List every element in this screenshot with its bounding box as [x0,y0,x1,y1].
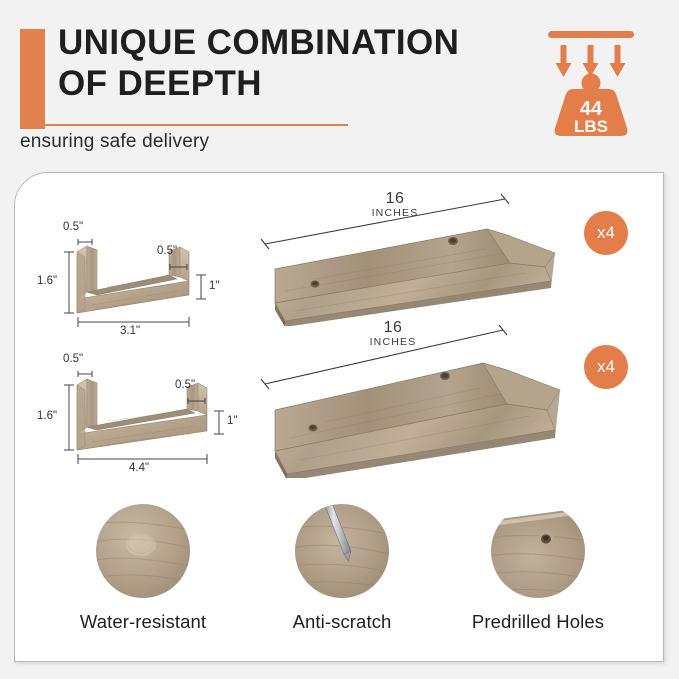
shelf-wide-length: 16 INCHES [358,320,428,348]
dim-lip-left-1: 0.5" [63,221,83,233]
dim-lip-right-1: 0.5" [157,245,177,257]
dim-width-2: 4.4" [129,462,149,474]
page-title: UNIQUE COMBINATION OF DEEPTH [58,22,518,105]
dim-lip-right-2: 0.5" [175,379,195,391]
subtitle: ensuring safe delivery [20,131,209,153]
quantity-badge-wide: x4 [584,345,628,389]
feature-predrilled-holes: Predrilled Holes [443,503,633,633]
scratch-pin-on-wood-icon [294,503,390,599]
shelf-narrow-length-value: 16 [360,191,430,208]
shelf-wide-length-unit: INCHES [358,337,428,348]
predrilled-hole-wood-icon [490,503,586,599]
shelf-narrow: 16 INCHES [255,191,575,326]
product-spec-panel: 0.5" 0.5" 1.6" 1" 3.1" [14,172,664,662]
feature-water-resistant: Water-resistant [48,503,238,633]
dim-height-1: 1.6" [37,275,57,287]
dim-height-2: 1.6" [37,410,57,422]
feature-label-anti-scratch: Anti-scratch [247,611,437,633]
small-shelf-cross-section-drawing [37,217,237,342]
title-divider [20,124,348,126]
header: UNIQUE COMBINATION OF DEEPTH ensuring sa… [0,0,679,170]
shelf-narrow-length-unit: INCHES [360,208,430,219]
accent-bar [20,29,45,129]
feature-row: Water-resistant [15,503,664,653]
dim-width-1: 3.1" [120,325,140,337]
large-shelf-cross-section: 0.5" 0.5" 1.6" 1" 4.4" [37,355,252,480]
shelf-wide-length-value: 16 [358,320,428,337]
shelf-narrow-length: 16 INCHES [360,191,430,219]
feature-label-water-resistant: Water-resistant [48,611,238,633]
dim-depth-2: 1" [227,415,237,427]
small-shelf-cross-section: 0.5" 0.5" 1.6" 1" 3.1" [37,217,237,342]
title-line-1: UNIQUE COMBINATION [58,22,518,63]
feature-anti-scratch: Anti-scratch [247,503,437,633]
feature-label-predrilled-holes: Predrilled Holes [443,611,633,633]
shelf-wide: 16 INCHES [255,318,585,478]
weight-capacity-badge: 44 LBS [536,25,646,140]
quantity-badge-narrow: x4 [584,211,628,255]
water-droplet-on-wood-icon [95,503,191,599]
weight-unit: LBS [574,117,608,136]
dim-depth-1: 1" [209,280,219,292]
title-line-2: OF DEEPTH [58,63,518,104]
weight-load-icon: 44 LBS [536,25,646,140]
dim-lip-left-2: 0.5" [63,353,83,365]
